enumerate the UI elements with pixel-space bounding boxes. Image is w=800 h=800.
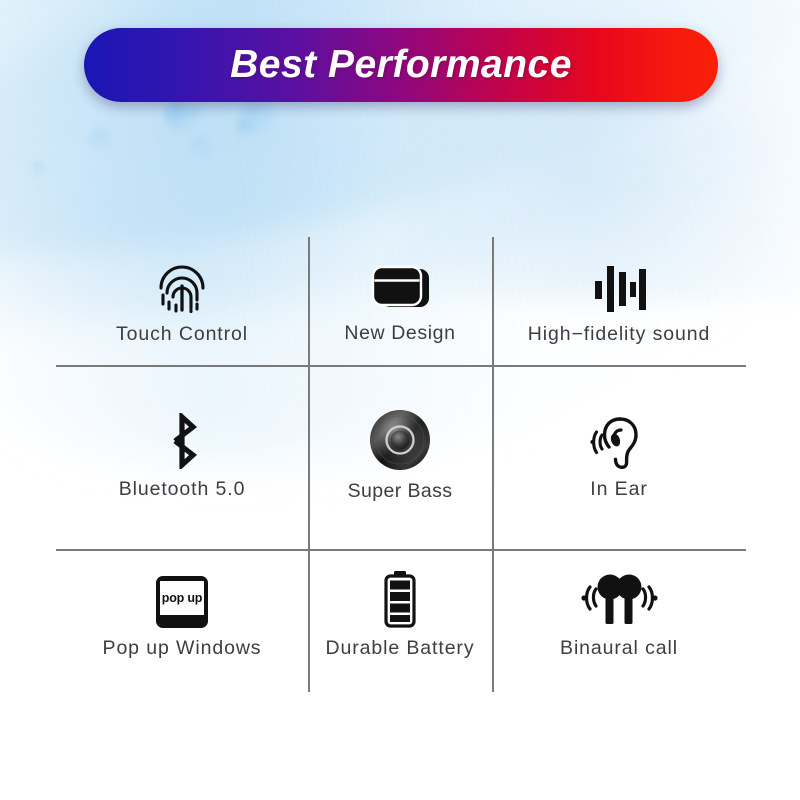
banner-title: Best Performance — [230, 43, 572, 87]
feature-cell-high-fidelity-sound: High−fidelity sound — [492, 237, 746, 365]
bokeh-circle — [163, 98, 197, 132]
feature-label: Binaural call — [560, 637, 678, 660]
title-banner: Best Performance — [84, 28, 718, 102]
battery-icon — [381, 566, 419, 628]
bokeh-circle — [30, 160, 48, 178]
bokeh-circle — [186, 102, 208, 124]
feature-cell-touch-control: Touch Control — [56, 237, 308, 365]
feature-cell-durable-battery: Durable Battery — [308, 549, 492, 692]
bokeh-circle — [190, 135, 214, 159]
bokeh-circle — [88, 127, 114, 153]
feature-cell-new-design: New Design — [308, 237, 492, 365]
pop-up-window-icon: pop up — [156, 566, 208, 628]
sound-waveform-icon — [592, 252, 646, 314]
feature-label: Pop up Windows — [103, 637, 262, 660]
fingerprint-icon — [157, 252, 207, 314]
pop-up-icon-label: pop up — [162, 591, 202, 605]
feature-cell-binaural-call: Binaural call — [492, 549, 746, 692]
feature-cell-in-ear: In Ear — [492, 365, 746, 549]
feature-grid: Touch Control New Design — [56, 237, 746, 692]
feature-label: Bluetooth 5.0 — [119, 478, 246, 501]
feature-cell-bluetooth: Bluetooth 5.0 — [56, 365, 308, 549]
dual-earbuds-icon — [577, 566, 661, 628]
feature-label: Touch Control — [116, 323, 248, 346]
bokeh-circle — [236, 118, 256, 138]
feature-label: Super Bass — [348, 480, 453, 503]
feature-label: Durable Battery — [326, 637, 475, 660]
bluetooth-icon — [163, 407, 201, 469]
ear-icon — [590, 407, 648, 469]
bokeh-circle — [164, 104, 194, 134]
speaker-driver-icon — [369, 409, 431, 471]
feature-cell-super-bass: Super Bass — [308, 365, 492, 549]
feature-label: In Ear — [590, 478, 647, 501]
feature-cell-pop-up-windows: pop up Pop up Windows — [56, 549, 308, 692]
charging-case-icon — [369, 251, 431, 313]
feature-label: New Design — [344, 322, 455, 345]
feature-label: High−fidelity sound — [528, 323, 710, 346]
bokeh-circle — [238, 96, 278, 136]
promo-feature-page: Best Performance — [0, 0, 800, 800]
